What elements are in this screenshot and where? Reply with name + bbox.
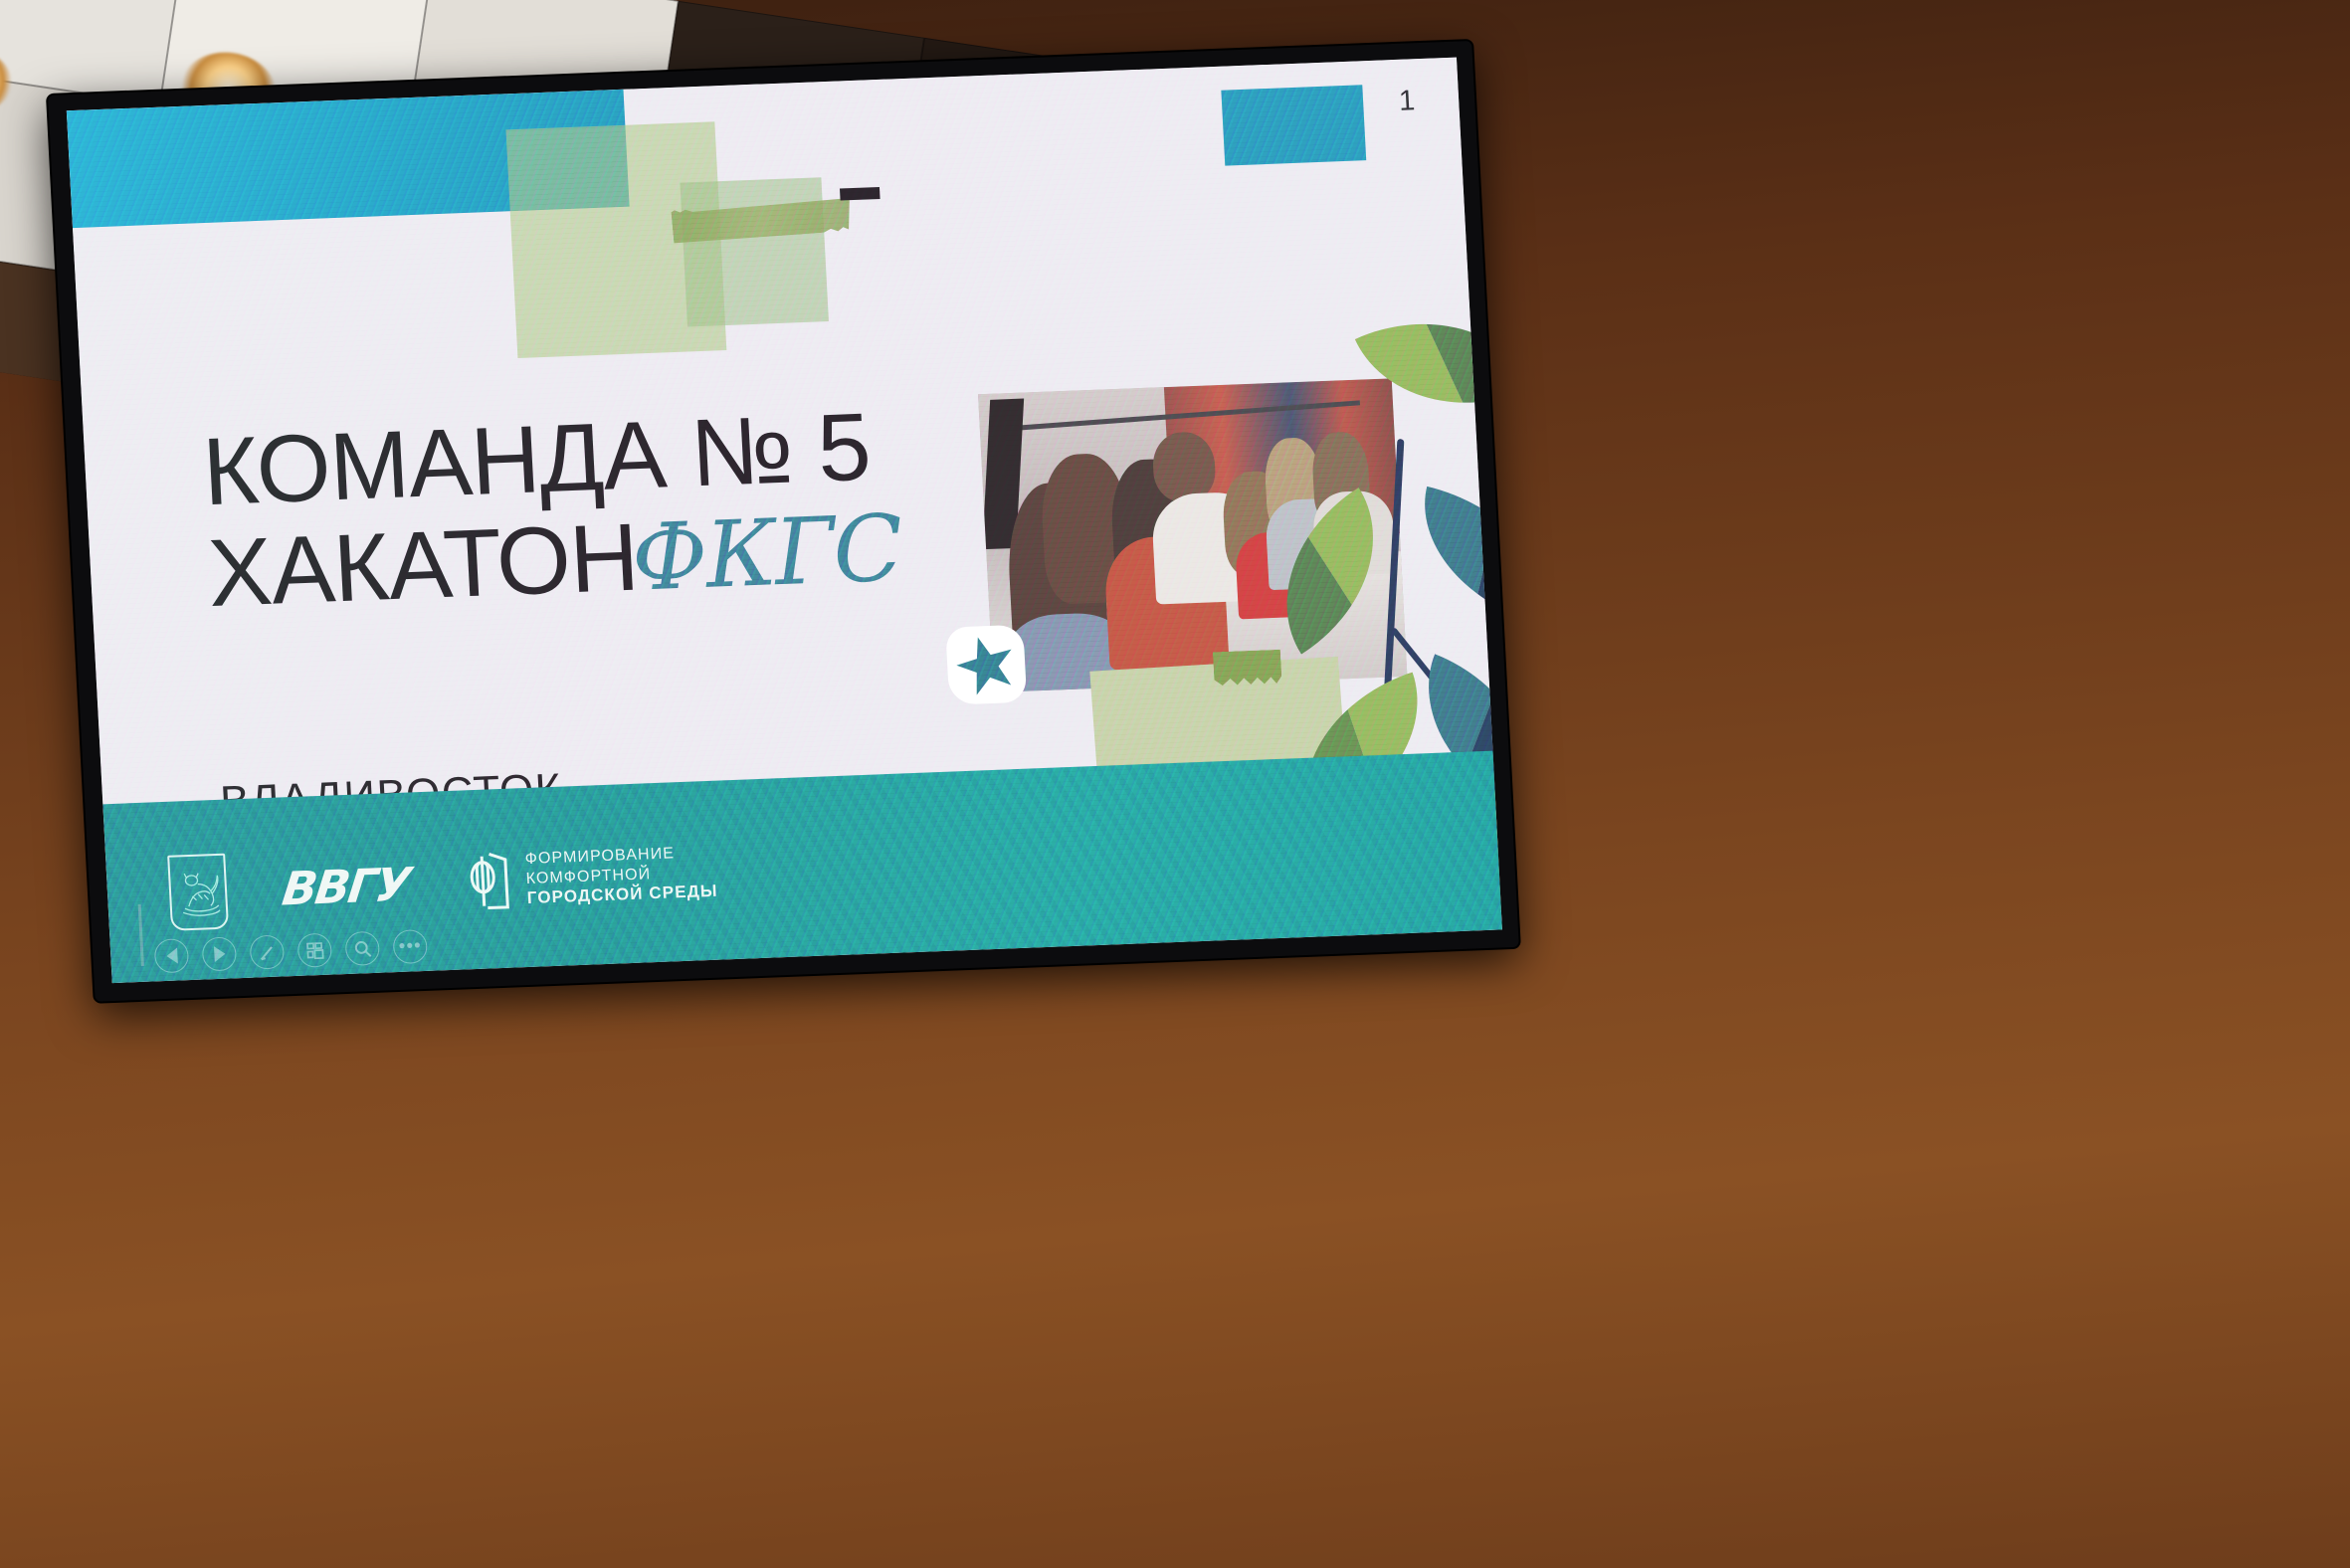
decor-black-dash xyxy=(840,187,881,201)
ellipsis-icon: ••• xyxy=(399,946,422,947)
title-line-2: ХАКАТОН ФКГС xyxy=(206,496,904,624)
fkgs-mark-icon xyxy=(463,850,511,913)
slide-number: 1 xyxy=(1398,85,1416,118)
title-line-2-text: ХАКАТОН xyxy=(206,506,641,624)
text-cursor xyxy=(138,904,144,966)
slide-grid-button[interactable] xyxy=(296,933,332,968)
zoom-button[interactable] xyxy=(344,931,380,966)
slide-title-group: КОМАНДА № 5 ХАКАТОН ФКГС xyxy=(200,396,903,625)
arrow-left-icon xyxy=(166,948,178,964)
screen-panel: 1 КОМАНДА № 5 ХАКАТОН ФКГС ВЛАДИВОСТОК xyxy=(67,58,1502,983)
slide-number-badge xyxy=(1221,85,1366,165)
fkgs-program-text: ФОРМИРОВАНИЕ КОМФОРТНОЙ ГОРОДСКОЙ СРЕДЫ xyxy=(524,843,718,909)
vladivostok-coat-of-arms-icon xyxy=(167,854,229,931)
slide-grid-icon xyxy=(304,940,324,960)
pen-tool-button[interactable] xyxy=(249,934,285,969)
next-slide-button[interactable] xyxy=(202,936,238,971)
more-options-button[interactable]: ••• xyxy=(392,929,428,964)
conference-room-background: 1 КОМАНДА № 5 ХАКАТОН ФКГС ВЛАДИВОСТОК xyxy=(0,0,2350,1568)
magnifier-icon xyxy=(352,939,372,959)
previous-slide-button[interactable] xyxy=(154,938,190,973)
vvgu-logo: ВВГУ xyxy=(280,857,413,915)
title-accent-fkgs: ФКГС xyxy=(629,499,903,607)
decor-green-block-small xyxy=(680,177,828,326)
led-screen: 1 КОМАНДА № 5 ХАКАТОН ФКГС ВЛАДИВОСТОК xyxy=(48,41,1519,1002)
presentation-toolbar[interactable]: ••• xyxy=(154,929,429,973)
pen-icon xyxy=(257,942,277,962)
presentation-slide[interactable]: 1 КОМАНДА № 5 ХАКАТОН ФКГС ВЛАДИВОСТОК xyxy=(67,58,1502,983)
fkgs-program-logo: ФОРМИРОВАНИЕ КОМФОРТНОЙ ГОРОДСКОЙ СРЕДЫ xyxy=(463,842,718,913)
arrow-right-icon xyxy=(213,946,225,962)
footer-logos: ВВГУ ФОРМИРОВАН xyxy=(167,835,718,931)
